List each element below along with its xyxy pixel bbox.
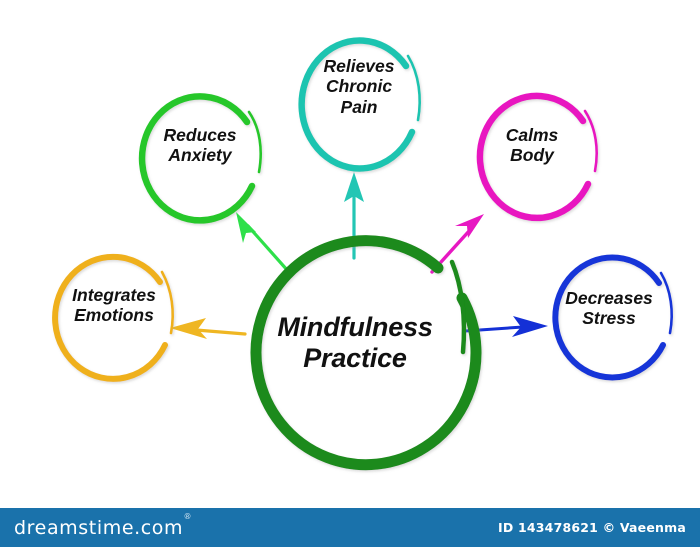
diagram-canvas [0,0,700,508]
arrow-to-reduces-anxiety [236,212,288,271]
node-ring-decreases-stress[interactable] [555,257,671,377]
image-id-credit: ID 143478621 © Vaeenma [498,520,686,535]
node-ring-reduces-anxiety[interactable] [142,96,261,220]
node-ring-integrates-emotions[interactable] [55,257,173,379]
node-ring-relieves-chronic-pain[interactable] [302,40,420,168]
arrow-to-integrates-emotions [170,318,245,339]
watermark-footer: dreamstime.com ® ID 143478621 © Vaeenma [0,508,700,547]
dreamstime-logo-text: dreamstime.com [14,517,183,539]
registered-trademark-icon: ® [184,512,193,521]
node-ring-center[interactable] [256,241,476,465]
dreamstime-logo: dreamstime.com ® [14,517,183,539]
node-ring-calms-body[interactable] [480,96,597,218]
